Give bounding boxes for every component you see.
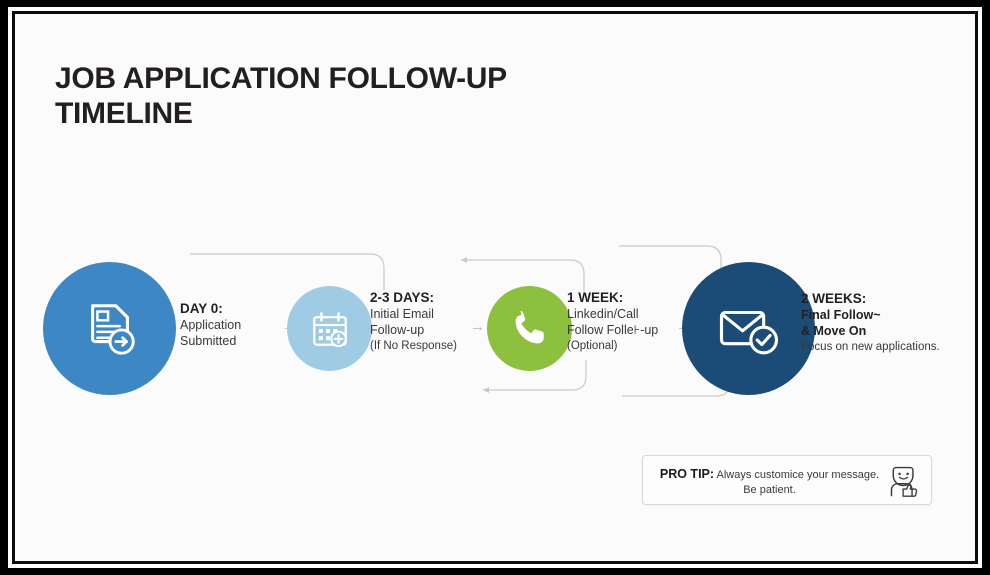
step-circle-final-followup[interactable] (682, 262, 815, 395)
step-label-linkedin-call: 1 WEEK: Linkedin/Call Follow Folle⊦-up (… (567, 289, 687, 353)
step-note: (Optional) (567, 339, 687, 353)
step-line: Follow-up (370, 323, 485, 339)
step-note: Focus on new applications. (801, 340, 975, 354)
step-line: & Move On (801, 324, 975, 340)
pro-tip-box: PRO TIP: Always customice your message. … (642, 455, 932, 505)
envelope-check-icon (716, 296, 782, 362)
step-circle-linkedin-call[interactable] (487, 286, 572, 371)
pro-tip-message-2: Be patient. (743, 484, 796, 496)
pro-tip-label: PRO TIP: (660, 467, 714, 481)
step-circle-application-submitted[interactable] (43, 262, 176, 395)
step-line: Submitted (180, 334, 280, 350)
image-frame: JOB APPLICATION FOLLOW-UP TIMELINE (0, 0, 990, 575)
step-heading: 2 WEEKS: (801, 290, 975, 307)
step-label-application-submitted: DAY 0: Application Submitted (180, 300, 280, 350)
step-label-final-followup: 2 WEEKS: Final Follow~ & Move On Focus o… (801, 290, 975, 354)
step-line: Follow Folle⊦-up (567, 323, 687, 339)
pro-tip-message: Always customice your message. (717, 469, 880, 481)
step-note: (If No Response) (370, 339, 485, 353)
thumbs-up-person-icon (886, 464, 922, 503)
step-line: Initial Email (370, 307, 485, 323)
calendar-plus-icon (309, 308, 351, 350)
document-arrow-icon (79, 298, 141, 360)
step-line: Final Follow~ (801, 308, 975, 324)
step-heading: DAY 0: (180, 300, 280, 317)
step-line: Linkedin/Call (567, 307, 687, 323)
step-heading: 2-3 DAYS: (370, 289, 485, 306)
phone-icon (510, 309, 550, 349)
pro-tip-text: PRO TIP: Always customice your message. … (657, 466, 882, 498)
slide-canvas: JOB APPLICATION FOLLOW-UP TIMELINE (15, 14, 975, 561)
step-line: Application (180, 318, 280, 334)
step-circle-initial-email[interactable] (287, 286, 372, 371)
step-heading: 1 WEEK: (567, 289, 687, 306)
step-label-initial-email: 2-3 DAYS: Initial Email Follow-up (If No… (370, 289, 485, 353)
